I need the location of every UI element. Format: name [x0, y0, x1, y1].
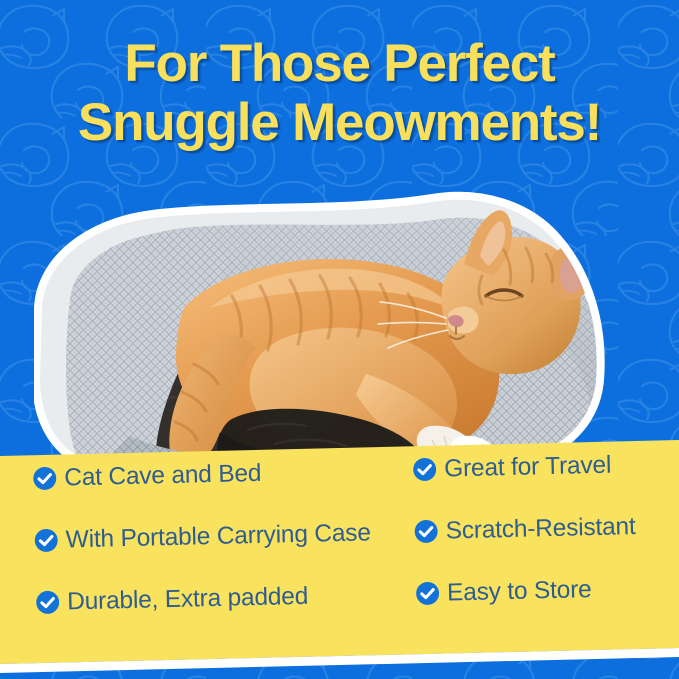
feature-label: Cat Cave and Bed: [64, 459, 262, 491]
feature-label: With Portable Carrying Case: [65, 519, 371, 553]
feature-list: Cat Cave and Bed With Portable Carrying …: [0, 432, 679, 663]
feature-column-left: Cat Cave and Bed With Portable Carrying …: [32, 438, 411, 633]
check-circle-icon: [415, 580, 441, 606]
feature-item: With Portable Carrying Case: [33, 500, 409, 571]
check-circle-icon: [412, 456, 438, 482]
product-infographic: For Those Perfect Snuggle Meowments!: [0, 0, 679, 679]
feature-item: Scratch-Resistant: [413, 494, 664, 562]
check-circle-icon: [33, 527, 59, 553]
feature-item: Durable, Extra padded: [34, 562, 410, 633]
feature-label: Great for Travel: [444, 451, 612, 482]
feature-column-right: Great for Travel Scratch-Resistant: [411, 432, 665, 624]
headline-line-1: For Those Perfect: [0, 34, 679, 93]
feature-item: Cat Cave and Bed: [32, 438, 408, 509]
check-circle-icon: [35, 589, 61, 615]
check-circle-icon: [32, 465, 58, 491]
headline: For Those Perfect Snuggle Meowments!: [0, 34, 679, 152]
check-circle-icon: [413, 518, 439, 544]
feature-label: Durable, Extra padded: [67, 582, 309, 615]
headline-line-2: Snuggle Meowments!: [0, 93, 679, 152]
feature-item: Great for Travel: [411, 432, 662, 500]
feature-label: Easy to Store: [447, 576, 592, 606]
feature-label: Scratch-Resistant: [445, 513, 636, 544]
feature-item: Easy to Store: [414, 556, 665, 624]
